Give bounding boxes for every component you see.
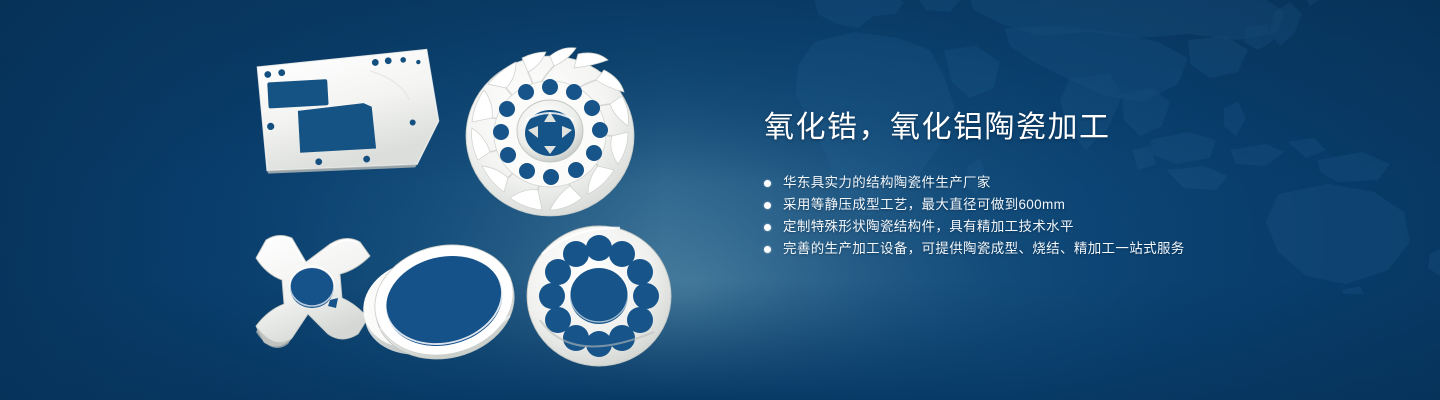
feature-text: 完善的生产加工设备，可提供陶瓷成型、烧结、精加工一站式服务 [783,238,1185,260]
feature-text: 华东具实力的结构陶瓷件生产厂家 [783,172,991,194]
banner-copy: 氧化锆，氧化铝陶瓷加工 华东具实力的结构陶瓷件生产厂家 采用等静压成型工艺，最大… [764,108,1324,260]
feature-list-item: 定制特殊形状陶瓷结构件，具有精加工技术水平 [764,216,1324,238]
bullet-dot-icon [764,180,771,187]
feature-list-item: 完善的生产加工设备，可提供陶瓷成型、烧结、精加工一站式服务 [764,238,1324,260]
feature-list-item: 采用等静压成型工艺，最大直径可做到600mm [764,194,1324,216]
feature-text: 采用等静压成型工艺，最大直径可做到600mm [783,194,1065,216]
bullet-dot-icon [764,202,771,209]
banner-headline: 氧化锆，氧化铝陶瓷加工 [764,108,1324,148]
bullet-dot-icon [764,246,771,253]
thin-ceramic-ring [344,224,534,374]
bullet-dot-icon [764,224,771,231]
product-photo-group [236,34,696,382]
promo-banner: 氧化锆，氧化铝陶瓷加工 华东具实力的结构陶瓷件生产厂家 采用等静压成型工艺，最大… [0,0,1440,400]
vaned-ceramic-impeller [450,34,650,234]
machined-ceramic-plate [251,45,448,179]
perforated-ceramic-disc [524,220,674,370]
feature-list: 华东具实力的结构陶瓷件生产厂家 采用等静压成型工艺，最大直径可做到600mm 定… [764,172,1324,260]
feature-text: 定制特殊形状陶瓷结构件，具有精加工技术水平 [783,216,1074,238]
feature-list-item: 华东具实力的结构陶瓷件生产厂家 [764,172,1324,194]
